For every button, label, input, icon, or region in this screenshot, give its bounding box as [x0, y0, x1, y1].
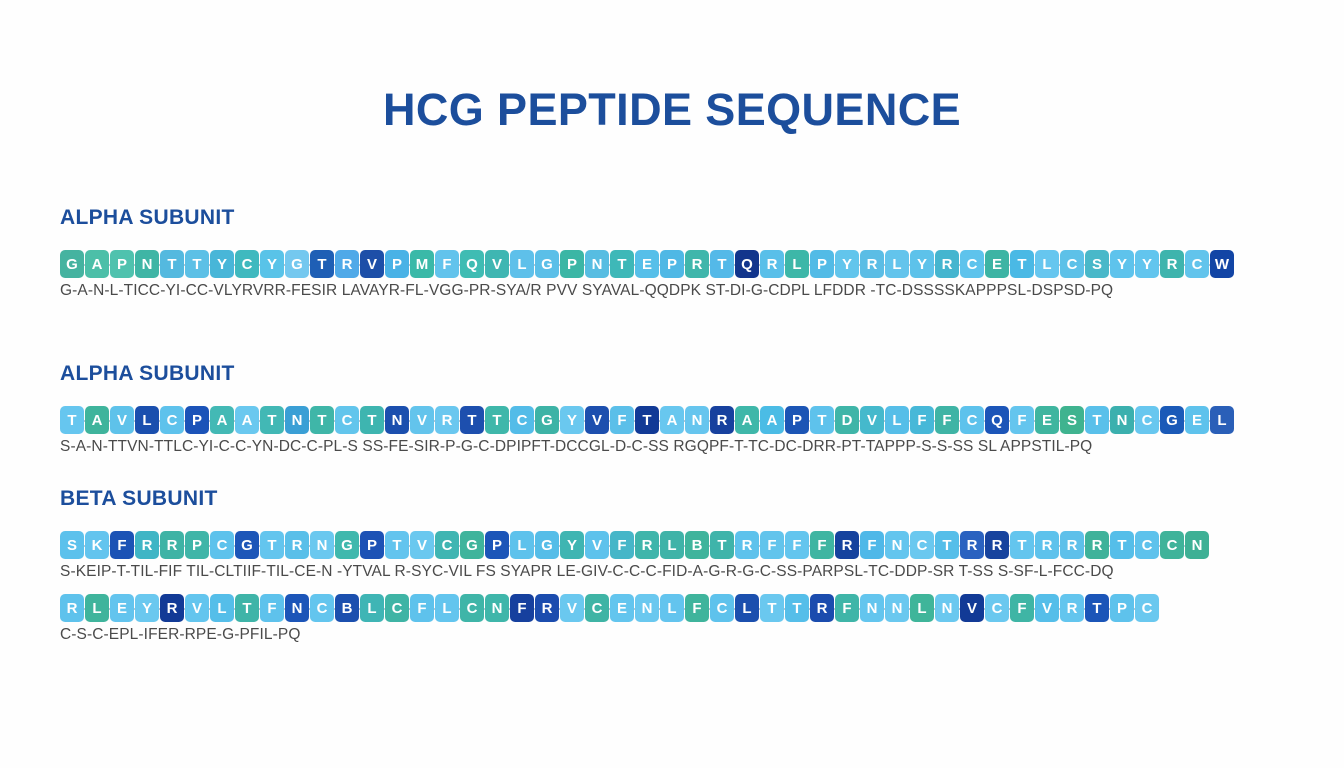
amino-acid-tile[interactable]: T [385, 531, 409, 559]
amino-acid-tile[interactable]: T [935, 531, 959, 559]
amino-acid-tile[interactable]: C [960, 250, 984, 278]
amino-acid-tile[interactable]: R [1060, 594, 1084, 622]
sequence-text: G-A-N-L-TICC-YI-CC-VLYRVRR-FESIR LAVAYR-… [60, 282, 1235, 300]
amino-acid-tile[interactable]: G [60, 250, 84, 278]
amino-acid-tile[interactable]: R [635, 531, 659, 559]
amino-acid-tile[interactable]: P [385, 250, 409, 278]
amino-acid-tile[interactable]: R [160, 594, 184, 622]
section-heading: BETA SUBUNIT [60, 487, 1210, 511]
amino-acid-tile[interactable]: T [260, 531, 284, 559]
amino-acid-tile[interactable]: R [960, 531, 984, 559]
amino-acid-tile[interactable]: L [660, 531, 684, 559]
amino-acid-tile[interactable]: P [485, 531, 509, 559]
amino-acid-tile[interactable]: S [1060, 406, 1084, 434]
amino-acid-tile[interactable]: L [360, 594, 384, 622]
amino-acid-tile[interactable]: T [635, 406, 659, 434]
amino-acid-tile[interactable]: E [110, 594, 134, 622]
tile-row: RLEYRVLTFNCBLCFLCNFRVCENLFCLTTRFNNLNVCFV… [60, 593, 1210, 623]
amino-acid-tile[interactable]: L [735, 594, 759, 622]
amino-acid-tile[interactable]: A [660, 406, 684, 434]
amino-acid-tile[interactable]: C [585, 594, 609, 622]
amino-acid-tile[interactable]: N [685, 406, 709, 434]
amino-acid-tile[interactable]: C [1160, 531, 1184, 559]
amino-acid-tile[interactable]: P [660, 250, 684, 278]
amino-acid-tile[interactable]: L [1035, 250, 1059, 278]
amino-acid-tile[interactable]: R [435, 406, 459, 434]
amino-acid-tile[interactable]: L [135, 406, 159, 434]
amino-acid-tile[interactable]: V [960, 594, 984, 622]
amino-acid-tile[interactable]: F [260, 594, 284, 622]
amino-acid-tile[interactable]: F [835, 594, 859, 622]
amino-acid-tile[interactable]: R [1060, 531, 1084, 559]
amino-acid-tile[interactable]: R [860, 250, 884, 278]
amino-acid-tile[interactable]: G [535, 531, 559, 559]
amino-acid-tile[interactable]: N [1185, 531, 1209, 559]
amino-acid-tile[interactable]: T [360, 406, 384, 434]
sequence-text: C-S-C-EPL-IFER-RPE-G-PFIL-PQ [60, 626, 1210, 644]
amino-acid-tile[interactable]: N [860, 594, 884, 622]
spacer [60, 585, 1210, 593]
amino-acid-tile[interactable]: Y [135, 594, 159, 622]
amino-acid-tile[interactable]: F [1010, 406, 1034, 434]
amino-acid-tile[interactable]: R [335, 250, 359, 278]
section-beta-subunit: BETA SUBUNIT SKFRRPCGTRNGPTVCGPLGYVFRLBT… [60, 487, 1210, 648]
amino-acid-tile[interactable]: C [1135, 594, 1159, 622]
amino-acid-tile[interactable]: E [1035, 406, 1059, 434]
section-heading: ALPHA SUBUNIT [60, 206, 1235, 230]
amino-acid-tile[interactable]: R [935, 250, 959, 278]
amino-acid-tile[interactable]: C [210, 531, 234, 559]
amino-acid-tile[interactable]: T [310, 406, 334, 434]
amino-acid-tile[interactable]: Q [735, 250, 759, 278]
amino-acid-tile[interactable]: C [385, 594, 409, 622]
amino-acid-tile[interactable]: C [160, 406, 184, 434]
amino-acid-tile[interactable]: Y [260, 250, 284, 278]
amino-acid-tile[interactable]: Q [460, 250, 484, 278]
amino-acid-tile[interactable]: R [60, 594, 84, 622]
amino-acid-tile[interactable]: C [310, 594, 334, 622]
amino-acid-tile[interactable]: R [135, 531, 159, 559]
amino-acid-tile[interactable]: F [110, 531, 134, 559]
amino-acid-tile[interactable]: B [335, 594, 359, 622]
amino-acid-tile[interactable]: T [760, 594, 784, 622]
amino-acid-tile[interactable]: D [835, 406, 859, 434]
section-heading: ALPHA SUBUNIT [60, 362, 1235, 386]
amino-acid-tile[interactable]: F [1010, 594, 1034, 622]
page-title: HCG PEPTIDE SEQUENCE [0, 84, 1344, 136]
amino-acid-tile[interactable]: T [185, 250, 209, 278]
amino-acid-tile[interactable]: S [1085, 250, 1109, 278]
amino-acid-tile[interactable]: V [410, 406, 434, 434]
amino-acid-tile[interactable]: G [535, 406, 559, 434]
amino-acid-tile[interactable]: P [110, 250, 134, 278]
amino-acid-tile[interactable]: Q [985, 406, 1009, 434]
amino-acid-tile[interactable]: Y [560, 531, 584, 559]
amino-acid-tile[interactable]: L [510, 250, 534, 278]
amino-acid-tile[interactable]: T [1010, 531, 1034, 559]
poster-canvas: HCG PEPTIDE SEQUENCE ALPHA SUBUNIT GAPNT… [0, 0, 1344, 768]
amino-acid-tile[interactable]: C [1135, 531, 1159, 559]
amino-acid-tile[interactable]: N [485, 594, 509, 622]
amino-acid-tile[interactable]: Y [910, 250, 934, 278]
amino-acid-tile[interactable]: V [360, 250, 384, 278]
amino-acid-tile[interactable]: F [685, 594, 709, 622]
amino-acid-tile[interactable]: T [310, 250, 334, 278]
amino-acid-tile[interactable]: C [510, 406, 534, 434]
amino-acid-tile[interactable]: A [85, 406, 109, 434]
tile-row: TAVLCPAATNTCTNVRTTCGYVFTANRAAPTDVLFFCQFE… [60, 405, 1235, 435]
amino-acid-tile[interactable]: S [60, 531, 84, 559]
tile-row: GAPNTTYCYGTRVPMFQVLGPNTEPRTQRLPYRLYRCETL… [60, 249, 1235, 279]
amino-acid-tile[interactable]: L [1210, 406, 1234, 434]
amino-acid-tile[interactable]: Y [1110, 250, 1134, 278]
amino-acid-tile[interactable]: N [385, 406, 409, 434]
amino-acid-tile[interactable]: E [985, 250, 1009, 278]
amino-acid-tile[interactable]: V [185, 594, 209, 622]
amino-acid-tile[interactable]: C [710, 594, 734, 622]
amino-acid-tile[interactable]: E [610, 594, 634, 622]
amino-acid-tile[interactable]: F [410, 594, 434, 622]
amino-acid-tile[interactable]: C [235, 250, 259, 278]
amino-acid-tile[interactable]: L [785, 250, 809, 278]
tile-row: SKFRRPCGTRNGPTVCGPLGYVFRLBTRFFFRFNCTRRTR… [60, 530, 1210, 560]
amino-acid-tile[interactable]: T [260, 406, 284, 434]
amino-acid-tile[interactable]: P [560, 250, 584, 278]
amino-acid-tile[interactable]: N [585, 250, 609, 278]
amino-acid-tile[interactable]: T [710, 531, 734, 559]
sequence-block: TAVLCPAATNTCTNVRTTCGYVFTANRAAPTDVLFFCQFE… [60, 405, 1235, 456]
amino-acid-tile[interactable]: Y [835, 250, 859, 278]
amino-acid-tile[interactable]: N [635, 594, 659, 622]
amino-acid-tile[interactable]: T [785, 594, 809, 622]
amino-acid-tile[interactable]: T [1010, 250, 1034, 278]
amino-acid-tile[interactable]: Y [560, 406, 584, 434]
amino-acid-tile[interactable]: F [810, 531, 834, 559]
amino-acid-tile[interactable]: C [460, 594, 484, 622]
amino-acid-tile[interactable]: T [1085, 406, 1109, 434]
amino-acid-tile[interactable]: G [285, 250, 309, 278]
sequence-block: SKFRRPCGTRNGPTVCGPLGYVFRLBTRFFFRFNCTRRTR… [60, 530, 1210, 581]
amino-acid-tile[interactable]: W [1210, 250, 1234, 278]
amino-acid-tile[interactable]: T [810, 406, 834, 434]
amino-acid-tile[interactable]: N [935, 594, 959, 622]
amino-acid-tile[interactable]: R [760, 250, 784, 278]
amino-acid-tile[interactable]: R [535, 594, 559, 622]
amino-acid-tile[interactable]: V [560, 594, 584, 622]
amino-acid-tile[interactable]: L [85, 594, 109, 622]
section-alpha-subunit-2: ALPHA SUBUNIT TAVLCPAATNTCTNVRTTCGYVFTAN… [60, 362, 1235, 460]
amino-acid-tile[interactable]: V [585, 531, 609, 559]
amino-acid-tile[interactable]: R [810, 594, 834, 622]
amino-acid-tile[interactable]: R [985, 531, 1009, 559]
amino-acid-tile[interactable]: G [335, 531, 359, 559]
section-alpha-subunit-1: ALPHA SUBUNIT GAPNTTYCYGTRVPMFQVLGPNTEPR… [60, 206, 1235, 304]
amino-acid-tile[interactable]: C [960, 406, 984, 434]
amino-acid-tile[interactable]: F [435, 250, 459, 278]
amino-acid-tile[interactable]: Y [210, 250, 234, 278]
amino-acid-tile[interactable]: L [210, 594, 234, 622]
amino-acid-tile[interactable]: R [835, 531, 859, 559]
amino-acid-tile[interactable]: P [185, 406, 209, 434]
amino-acid-tile[interactable]: N [285, 594, 309, 622]
amino-acid-tile[interactable]: F [860, 531, 884, 559]
amino-acid-tile[interactable]: G [235, 531, 259, 559]
amino-acid-tile[interactable]: V [110, 406, 134, 434]
amino-acid-tile[interactable]: L [660, 594, 684, 622]
amino-acid-tile[interactable]: C [435, 531, 459, 559]
amino-acid-tile[interactable]: C [1060, 250, 1084, 278]
amino-acid-tile[interactable]: P [810, 250, 834, 278]
amino-acid-tile[interactable]: R [160, 531, 184, 559]
amino-acid-tile[interactable]: F [760, 531, 784, 559]
amino-acid-tile[interactable]: F [910, 406, 934, 434]
amino-acid-tile[interactable]: C [910, 531, 934, 559]
amino-acid-tile[interactable]: A [735, 406, 759, 434]
amino-acid-tile[interactable]: V [410, 531, 434, 559]
amino-acid-tile[interactable]: G [1160, 406, 1184, 434]
amino-acid-tile[interactable]: P [360, 531, 384, 559]
amino-acid-tile[interactable]: E [635, 250, 659, 278]
amino-acid-tile[interactable]: N [885, 531, 909, 559]
amino-acid-tile[interactable]: T [710, 250, 734, 278]
amino-acid-tile[interactable]: C [335, 406, 359, 434]
amino-acid-tile[interactable]: L [910, 594, 934, 622]
amino-acid-tile[interactable]: L [510, 531, 534, 559]
amino-acid-tile[interactable]: L [885, 250, 909, 278]
amino-acid-tile[interactable]: K [85, 531, 109, 559]
amino-acid-tile[interactable]: R [1035, 531, 1059, 559]
sequence-block: RLEYRVLTFNCBLCFLCNFRVCENLFCLTTRFNNLNVCFV… [60, 593, 1210, 644]
amino-acid-tile[interactable]: T [235, 594, 259, 622]
amino-acid-tile[interactable]: T [1085, 594, 1109, 622]
amino-acid-tile[interactable]: R [685, 250, 709, 278]
amino-acid-tile[interactable]: V [485, 250, 509, 278]
amino-acid-tile[interactable]: B [685, 531, 709, 559]
amino-acid-tile[interactable]: F [610, 406, 634, 434]
amino-acid-tile[interactable]: N [310, 531, 334, 559]
sequence-block: GAPNTTYCYGTRVPMFQVLGPNTEPRTQRLPYRLYRCETL… [60, 249, 1235, 300]
amino-acid-tile[interactable]: N [885, 594, 909, 622]
amino-acid-tile[interactable]: L [885, 406, 909, 434]
amino-acid-tile[interactable]: N [285, 406, 309, 434]
amino-acid-tile[interactable]: M [410, 250, 434, 278]
amino-acid-tile[interactable]: P [1110, 594, 1134, 622]
amino-acid-tile[interactable]: F [610, 531, 634, 559]
amino-acid-tile[interactable]: R [710, 406, 734, 434]
sequence-text: S-KEIP-T-TIL-FIF TIL-CLTIIF-TIL-CE-N -YT… [60, 563, 1210, 581]
amino-acid-tile[interactable]: A [210, 406, 234, 434]
amino-acid-tile[interactable]: T [610, 250, 634, 278]
amino-acid-tile[interactable]: C [1185, 250, 1209, 278]
amino-acid-tile[interactable]: Y [1135, 250, 1159, 278]
amino-acid-tile[interactable]: P [785, 406, 809, 434]
amino-acid-tile[interactable]: C [1135, 406, 1159, 434]
amino-acid-tile[interactable]: N [135, 250, 159, 278]
amino-acid-tile[interactable]: N [1110, 406, 1134, 434]
amino-acid-tile[interactable]: F [510, 594, 534, 622]
amino-acid-tile[interactable]: V [1035, 594, 1059, 622]
amino-acid-tile[interactable]: T [460, 406, 484, 434]
amino-acid-tile[interactable]: R [1085, 531, 1109, 559]
amino-acid-tile[interactable]: R [1160, 250, 1184, 278]
amino-acid-tile[interactable]: P [185, 531, 209, 559]
amino-acid-tile[interactable]: V [860, 406, 884, 434]
amino-acid-tile[interactable]: R [285, 531, 309, 559]
sequence-text: S-A-N-TTVN-TTLC-YI-C-C-YN-DC-C-PL-S SS-F… [60, 438, 1235, 456]
amino-acid-tile[interactable]: T [60, 406, 84, 434]
amino-acid-tile[interactable]: F [785, 531, 809, 559]
amino-acid-tile[interactable]: G [535, 250, 559, 278]
amino-acid-tile[interactable]: R [735, 531, 759, 559]
amino-acid-tile[interactable]: F [935, 406, 959, 434]
amino-acid-tile[interactable]: C [985, 594, 1009, 622]
amino-acid-tile[interactable]: T [485, 406, 509, 434]
amino-acid-tile[interactable]: A [235, 406, 259, 434]
amino-acid-tile[interactable]: A [760, 406, 784, 434]
amino-acid-tile[interactable]: T [160, 250, 184, 278]
amino-acid-tile[interactable]: T [1110, 531, 1134, 559]
amino-acid-tile[interactable]: A [85, 250, 109, 278]
amino-acid-tile[interactable]: E [1185, 406, 1209, 434]
amino-acid-tile[interactable]: G [460, 531, 484, 559]
amino-acid-tile[interactable]: V [585, 406, 609, 434]
amino-acid-tile[interactable]: L [435, 594, 459, 622]
